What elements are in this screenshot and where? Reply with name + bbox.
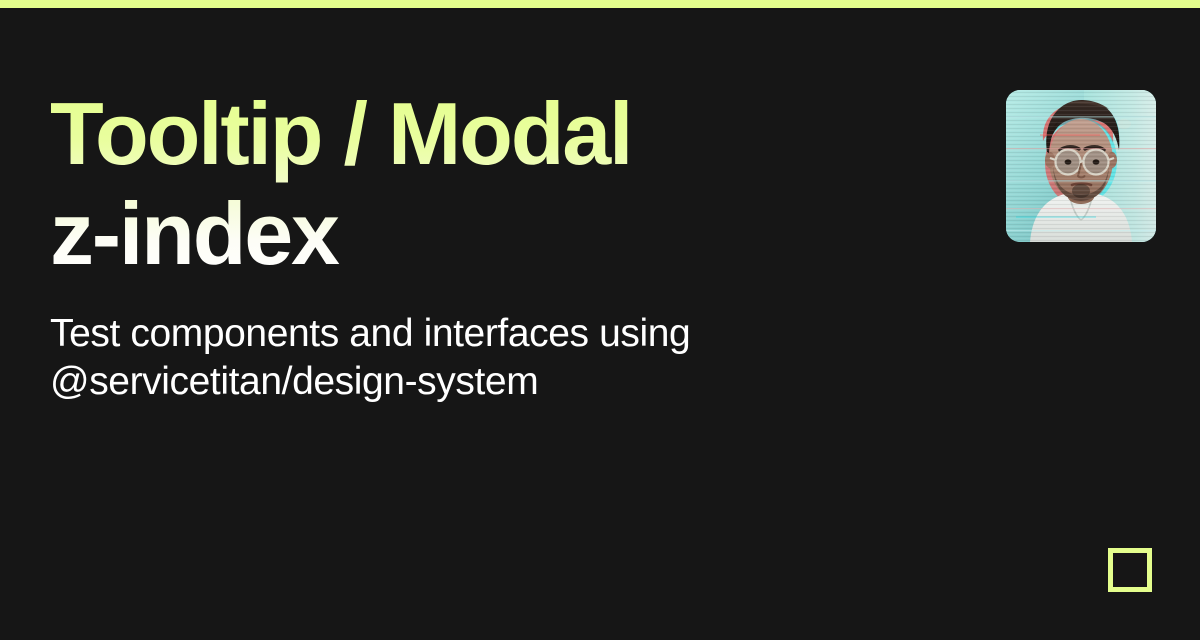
- content-column: Tooltip / Modal z-index Test components …: [50, 84, 950, 406]
- square-outline-mark: [1108, 548, 1152, 592]
- social-preview-card: Tooltip / Modal z-index Test components …: [0, 0, 1200, 640]
- top-accent-bar: [0, 0, 1200, 8]
- page-title: Tooltip / Modal z-index: [50, 84, 710, 284]
- owner-avatar: [1006, 90, 1156, 242]
- page-subtitle: Test components and interfaces using @se…: [50, 310, 930, 406]
- avatar-portrait-photo: [1006, 90, 1156, 242]
